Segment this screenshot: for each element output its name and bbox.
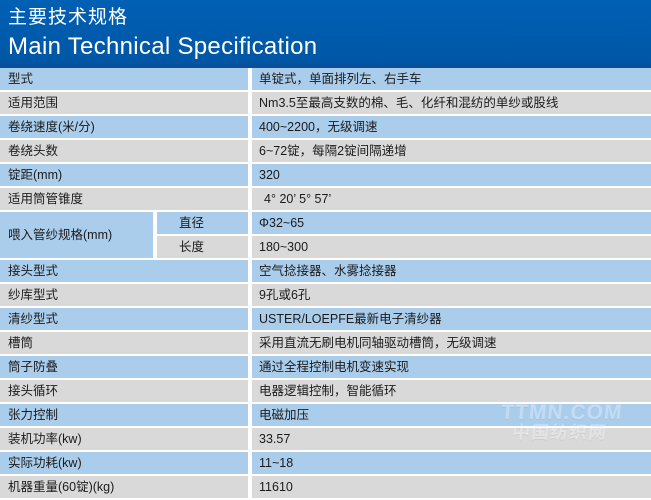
table-row: 纱库型式 9孔或6孔 — [0, 284, 651, 308]
spec-value: 11610 — [252, 476, 651, 500]
table-row: 卷绕头数 6~72锭，每隔2锭间隔递增 — [0, 140, 651, 164]
table-row: 机器重量(60锭)(kg) 11610 — [0, 476, 651, 500]
table-row: 接头循环 电器逻辑控制，智能循环 — [0, 380, 651, 404]
spec-label: 接头循环 — [0, 380, 252, 404]
table-row: 装机功率(kw) 33.57 — [0, 428, 651, 452]
spec-value: 9孔或6孔 — [252, 284, 651, 308]
table-row: 适用筒管锥度 4° 20’ 5° 57’ — [0, 188, 651, 212]
spec-value: 电器逻辑控制，智能循环 — [252, 380, 651, 404]
spec-label: 锭距(mm) — [0, 164, 252, 188]
spec-value: 采用直流无刷电机同轴驱动槽筒，无级调速 — [252, 332, 651, 356]
spec-label-merged: 喂入管纱规格(mm) — [0, 212, 157, 260]
spec-label: 卷绕速度(米/分) — [0, 116, 252, 140]
table-row: 适用范围 Nm3.5至最高支数的棉、毛、化纤和混纺的单纱或股线 — [0, 92, 651, 116]
page-header: 主要技术规格 Main Technical Specification — [0, 0, 651, 68]
spec-label: 适用范围 — [0, 92, 252, 116]
spec-label: 卷绕头数 — [0, 140, 252, 164]
specification-table: 型式 单锭式，单面排列左、右手车 适用范围 Nm3.5至最高支数的棉、毛、化纤和… — [0, 68, 651, 500]
spec-value: 电磁加压 — [252, 404, 651, 428]
spec-value: 320 — [252, 164, 651, 188]
specification-table-body: 型式 单锭式，单面排列左、右手车 适用范围 Nm3.5至最高支数的棉、毛、化纤和… — [0, 68, 651, 500]
table-row: 筒子防叠 通过全程控制电机变速实现 — [0, 356, 651, 380]
spec-sub-label: 长度 — [157, 236, 252, 260]
spec-value: Φ32~65 — [252, 212, 651, 236]
spec-value: 180~300 — [252, 236, 651, 260]
spec-value: 4° 20’ 5° 57’ — [252, 188, 651, 212]
table-row: 锭距(mm) 320 — [0, 164, 651, 188]
table-row: 清纱型式 USTER/LOEPFE最新电子清纱器 — [0, 308, 651, 332]
table-row: 接头型式 空气捻接器、水雾捻接器 — [0, 260, 651, 284]
spec-value: 空气捻接器、水雾捻接器 — [252, 260, 651, 284]
table-row: 型式 单锭式，单面排列左、右手车 — [0, 68, 651, 92]
spec-label: 筒子防叠 — [0, 356, 252, 380]
spec-label: 装机功率(kw) — [0, 428, 252, 452]
spec-value: USTER/LOEPFE最新电子清纱器 — [252, 308, 651, 332]
spec-value: 400~2200，无级调速 — [252, 116, 651, 140]
spec-sub-label: 直径 — [157, 212, 252, 236]
spec-value: 33.57 — [252, 428, 651, 452]
page-title-chinese: 主要技术规格 — [8, 4, 651, 31]
spec-value: Nm3.5至最高支数的棉、毛、化纤和混纺的单纱或股线 — [252, 92, 651, 116]
table-row: 张力控制 电磁加压 — [0, 404, 651, 428]
spec-label: 型式 — [0, 68, 252, 92]
spec-label: 适用筒管锥度 — [0, 188, 252, 212]
table-row: 卷绕速度(米/分) 400~2200，无级调速 — [0, 116, 651, 140]
table-row: 槽筒 采用直流无刷电机同轴驱动槽筒，无级调速 — [0, 332, 651, 356]
spec-label: 纱库型式 — [0, 284, 252, 308]
table-row: 喂入管纱规格(mm) 直径 Φ32~65 — [0, 212, 651, 236]
spec-label: 接头型式 — [0, 260, 252, 284]
spec-label: 槽筒 — [0, 332, 252, 356]
spec-value: 6~72锭，每隔2锭间隔递增 — [252, 140, 651, 164]
spec-label: 张力控制 — [0, 404, 252, 428]
spec-label: 机器重量(60锭)(kg) — [0, 476, 252, 500]
spec-value: 通过全程控制电机变速实现 — [252, 356, 651, 380]
spec-value: 单锭式，单面排列左、右手车 — [252, 68, 651, 92]
page-title-english: Main Technical Specification — [8, 31, 651, 62]
spec-label: 清纱型式 — [0, 308, 252, 332]
